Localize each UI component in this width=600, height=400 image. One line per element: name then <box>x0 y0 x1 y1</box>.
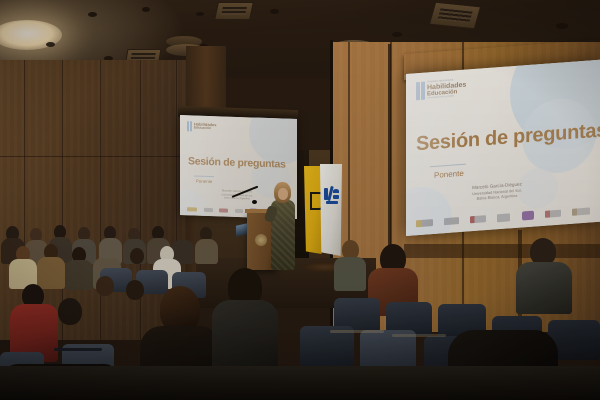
ceiling-spot <box>196 12 204 16</box>
ceiling-spot <box>142 7 150 12</box>
ceiling-spot <box>270 9 279 14</box>
slide-section-label: Ponente <box>434 169 464 180</box>
ceiling-spot <box>46 42 55 47</box>
ceiling-spot <box>392 32 402 37</box>
hvac-vent <box>429 2 482 30</box>
presentation-slide: Simposio Internacional Habilidades Educa… <box>406 60 600 236</box>
event-logo: Simposio Internacional Habilidades Educa… <box>416 79 466 101</box>
tecnologico-de-monterrey-logo <box>470 215 486 223</box>
universidad-partner-logo <box>572 207 590 215</box>
auditorium-photo: Simposio Internacional Habilidades Educa… <box>0 0 600 400</box>
seat-armrest <box>54 348 102 351</box>
audience-area <box>0 224 600 400</box>
audience-body <box>37 257 65 289</box>
aniversario-50-logo <box>522 211 534 221</box>
ceiling-spot <box>88 12 97 17</box>
audience-head <box>96 276 114 296</box>
audience-head-foreground <box>470 278 526 338</box>
projection-screen-right[interactable]: Simposio Internacional Habilidades Educa… <box>406 60 600 236</box>
ceiling-spot <box>556 23 568 29</box>
slide-divider <box>430 164 466 168</box>
microphone-head-icon <box>252 200 257 204</box>
audience-body <box>65 260 93 290</box>
audience-body <box>195 239 218 264</box>
universidad-del-rosario-logo <box>497 213 510 222</box>
logo-sub-text: Universidad de los Andes <box>427 94 466 99</box>
presenter-face <box>278 188 288 200</box>
audience-body <box>334 257 366 291</box>
seat-armrest <box>330 330 384 333</box>
audience-head <box>126 280 144 300</box>
hvac-vent <box>214 2 254 20</box>
logo-bars-icon <box>416 82 425 101</box>
seat-armrest <box>392 334 446 337</box>
floor <box>0 366 600 400</box>
tecnologico-partner-logo <box>545 210 561 218</box>
flag-emblem-icon <box>324 186 340 206</box>
